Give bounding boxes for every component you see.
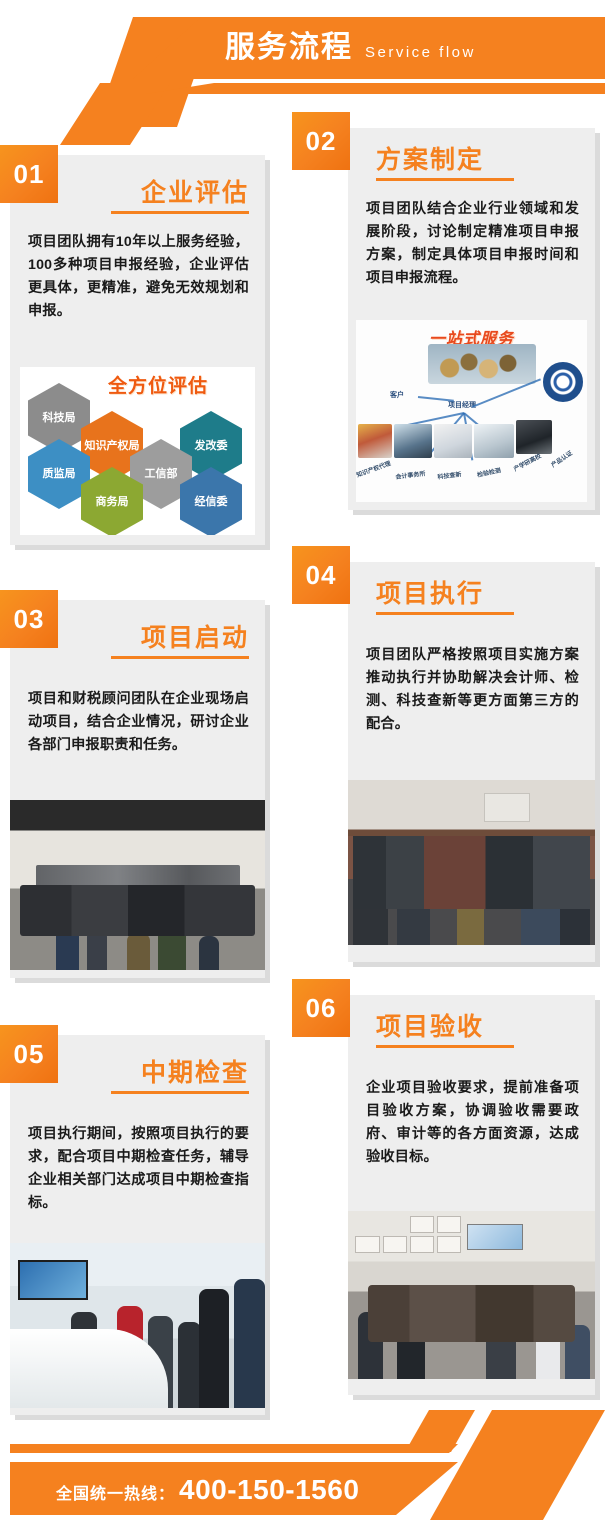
step-number-badge-04: 04 bbox=[292, 546, 350, 604]
wall-certificate-4 bbox=[437, 1216, 461, 1233]
header-title-group: 服务流程 Service flow bbox=[225, 26, 476, 72]
service-flow-infographic: 服务流程 Service flow 01 企业评估 项目团队拥有10年以上服务经… bbox=[0, 0, 605, 1538]
person-green-jacket bbox=[158, 926, 186, 970]
step-number-badge-05: 05 bbox=[0, 1025, 58, 1083]
step-card-02: 02 方案制定 项目团队结合企业行业领域和发展阶段，讨论制定精准项目申报方案，制… bbox=[348, 128, 595, 510]
step-card-04: 04 项目执行 项目团队严格按照项目实施方案推动执行并协助解决会计师、检测、科技… bbox=[348, 562, 595, 962]
visitor-3 bbox=[148, 1316, 174, 1408]
step-number-badge-01: 01 bbox=[0, 145, 58, 203]
service-thumb-university bbox=[516, 420, 552, 454]
meeting-room-photo-03 bbox=[10, 800, 265, 970]
working-meeting-photo-04 bbox=[348, 780, 595, 945]
service-thumb-ip bbox=[358, 424, 392, 458]
attendee-5 bbox=[565, 1325, 590, 1379]
service-thumb-testing bbox=[474, 424, 514, 458]
attendee-2 bbox=[397, 1292, 424, 1379]
step-title-01: 企业评估 bbox=[141, 173, 249, 209]
step-card-03: 03 项目启动 项目和财税顾问团队在企业现场启动项目，结合企业情况，研讨企业各部… bbox=[10, 600, 265, 978]
service-arrow-1 bbox=[418, 396, 454, 402]
step-title-underline-05 bbox=[111, 1091, 249, 1094]
visitor-1 bbox=[71, 1312, 97, 1408]
service-thumb-search bbox=[434, 424, 472, 458]
service-partner-label-testing: 检验检测 bbox=[476, 465, 501, 479]
step-title-underline-04 bbox=[376, 612, 514, 615]
step-body-03: 项目和财税顾问团队在企业现场启动项目，结合企业情况，研讨企业各部门申报职责和任务… bbox=[28, 688, 249, 757]
wall-certificate-5 bbox=[410, 1236, 434, 1253]
service-node-customer: 客户 bbox=[390, 390, 404, 400]
person-seated-3 bbox=[199, 936, 219, 970]
step-title-underline-03 bbox=[111, 656, 249, 659]
step-title-underline-01 bbox=[111, 211, 249, 214]
person-left-front bbox=[353, 866, 388, 945]
visitor-6 bbox=[234, 1279, 265, 1408]
step-body-06: 企业项目验收要求，提前准备项目验收方案，协调验收需要政府、审计等的各方面资源，达… bbox=[366, 1077, 579, 1169]
visitor-4 bbox=[178, 1322, 201, 1408]
service-thumb-accounting bbox=[394, 424, 432, 458]
attendee-1 bbox=[358, 1312, 383, 1379]
step-title-underline-06 bbox=[376, 1045, 514, 1048]
service-partner-label-ip: 知识产权代理 bbox=[356, 458, 392, 479]
step-title-02: 方案制定 bbox=[376, 140, 484, 176]
page-title: 服务流程 bbox=[225, 26, 353, 70]
person-left-back bbox=[397, 876, 429, 945]
header-sub-bar bbox=[146, 83, 605, 94]
page-footer: 全国统一热线： 400-150-1560 bbox=[0, 1418, 605, 1538]
person-right-back bbox=[560, 889, 590, 945]
step-title-04: 项目执行 bbox=[376, 574, 484, 610]
service-partner-label-university: 产学研高校 bbox=[512, 451, 543, 473]
step-body-04: 项目团队严格按照项目实施方案推动执行并协助解决会计师、检测、科技查新等更方面第三… bbox=[366, 644, 579, 736]
acceptance-meeting-photo-06 bbox=[348, 1211, 595, 1379]
visitor-2 bbox=[107, 1339, 130, 1408]
step-title-05: 中期检查 bbox=[141, 1053, 249, 1089]
person-seated-2 bbox=[127, 933, 150, 970]
step-body-05: 项目执行期间，按照项目执行的要求，配合项目中期检查任务，辅导企业相关部门达成项目… bbox=[28, 1123, 249, 1215]
step-number-badge-02: 02 bbox=[292, 112, 350, 170]
person-right-front bbox=[521, 859, 561, 945]
visitor-5 bbox=[199, 1289, 230, 1408]
host-red-coat bbox=[117, 1306, 143, 1408]
service-partner-label-certification: 产品认证 bbox=[549, 448, 574, 469]
step-card-05: 05 中期检查 项目执行期间，按照项目执行的要求，配合项目中期检查任务，辅导企业… bbox=[10, 1035, 265, 1415]
page-header: 服务流程 Service flow bbox=[0, 0, 605, 110]
step-title-underline-02 bbox=[376, 178, 514, 181]
step-body-01: 项目团队拥有10年以上服务经验，100多种项目申报经验，企业评估更具体，更精准，… bbox=[28, 231, 249, 323]
hex-node-zhijian-ju: 质监局 bbox=[28, 439, 90, 509]
footer-diagonal-accent-small bbox=[405, 1410, 475, 1452]
footer-thin-bar bbox=[10, 1444, 458, 1453]
person-seated-1 bbox=[87, 929, 107, 970]
step-number-badge-06: 06 bbox=[292, 979, 350, 1037]
hotline-group: 全国统一热线： 400-150-1560 bbox=[56, 1474, 359, 1506]
hexagon-figure-title: 全方位评估 bbox=[108, 371, 208, 398]
service-partner-label-search: 科技查新 bbox=[437, 469, 462, 481]
person-center bbox=[457, 889, 484, 945]
assessment-hexagon-figure: 全方位评估 科技局 知识产权局 发改委 质监局 工信部 经信委 商务局 bbox=[20, 367, 255, 535]
certification-seal-icon bbox=[543, 362, 583, 402]
step-title-06: 项目验收 bbox=[376, 1007, 484, 1043]
page-subtitle: Service flow bbox=[365, 44, 476, 61]
step-card-01: 01 企业评估 项目团队拥有10年以上服务经验，100多种项目申报经验，企业评估… bbox=[10, 155, 265, 545]
wall-certificate-1 bbox=[355, 1236, 379, 1253]
wall-certificate-2 bbox=[383, 1236, 407, 1253]
one-stop-service-figure: 一站式服务 客户 项目经理 知识产权代理 会计事务所 科技查新 bbox=[356, 320, 587, 502]
hotline-label: 全国统一热线： bbox=[56, 1480, 175, 1504]
wall-certificate-6 bbox=[437, 1236, 461, 1253]
attendee-4 bbox=[536, 1322, 561, 1379]
wall-certificate-3 bbox=[410, 1216, 434, 1233]
step-card-06: 06 项目验收 企业项目验收要求，提前准备项目验收方案，协调验收需要政府、审计等… bbox=[348, 995, 595, 1395]
hotline-phone-number[interactable]: 400-150-1560 bbox=[179, 1474, 359, 1506]
step-title-03: 项目启动 bbox=[141, 618, 249, 654]
person-standing bbox=[56, 916, 79, 970]
service-partner-label-accounting: 会计事务所 bbox=[395, 468, 426, 481]
step-number-badge-03: 03 bbox=[0, 590, 58, 648]
showroom-visit-photo-05 bbox=[10, 1243, 265, 1408]
step-body-02: 项目团队结合企业行业领域和发展阶段，讨论制定精准项目申报方案，制定具体项目申报时… bbox=[366, 198, 579, 290]
service-meeting-photo bbox=[428, 344, 536, 384]
attendee-3 bbox=[486, 1305, 516, 1379]
